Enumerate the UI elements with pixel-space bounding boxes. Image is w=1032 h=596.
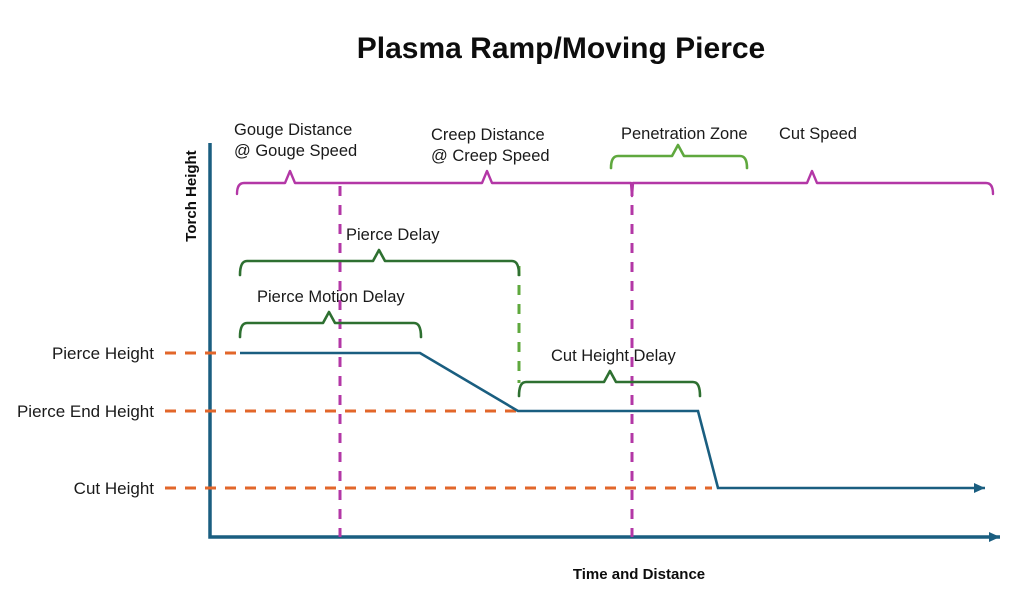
torch-curve-arrowhead (974, 483, 985, 493)
speed-brace-group (237, 171, 993, 196)
axes-group (210, 143, 1000, 542)
pierce-height-label: Pierce Height (52, 344, 154, 363)
cut-height-delay-label: Cut Height Delay (551, 347, 676, 365)
creep-distance-label: Creep Distance@ Creep Speed (431, 126, 550, 165)
penetration-zone-brace (611, 145, 747, 168)
brace-labels-group: Pierce DelayPierce Motion DelayCut Heigh… (257, 226, 676, 365)
pierce-motion-delay-brace (240, 312, 421, 337)
y-axis-label: Torch Height (183, 150, 200, 241)
cut-speed-label: Cut Speed (779, 125, 857, 143)
page-title: Plasma Ramp/Moving Pierce (357, 32, 766, 65)
axis-lines (210, 143, 1000, 537)
x-axis-label: Time and Distance (573, 566, 705, 583)
speed-brace (237, 171, 993, 196)
cut-height-label: Cut Height (74, 479, 155, 498)
diagram-canvas: Plasma Ramp/Moving Pierce Torch Height T… (0, 0, 1032, 596)
height-markers-group: Pierce HeightPierce End HeightCut Height (17, 344, 712, 498)
cut-height-marker: Cut Height (74, 479, 712, 498)
pierce-end-height-marker: Pierce End Height (17, 402, 522, 421)
plasma-ramp-diagram: Plasma Ramp/Moving Pierce Torch Height T… (0, 0, 1032, 596)
pierce-end-height-label: Pierce End Height (17, 402, 154, 421)
pierce-motion-delay-label: Pierce Motion Delay (257, 288, 405, 306)
pierce-delay-brace (240, 250, 519, 275)
penetration-zone-label: Penetration Zone (621, 125, 748, 143)
gouge-distance-label: Gouge Distance@ Gouge Speed (234, 121, 357, 160)
speed-labels-group: Gouge Distance@ Gouge SpeedCreep Distanc… (234, 121, 857, 165)
pierce-height-marker: Pierce Height (52, 344, 243, 363)
cut-height-delay-brace (519, 371, 700, 396)
x-axis-arrowhead (989, 532, 1000, 542)
pierce-delay-label: Pierce Delay (346, 226, 440, 244)
